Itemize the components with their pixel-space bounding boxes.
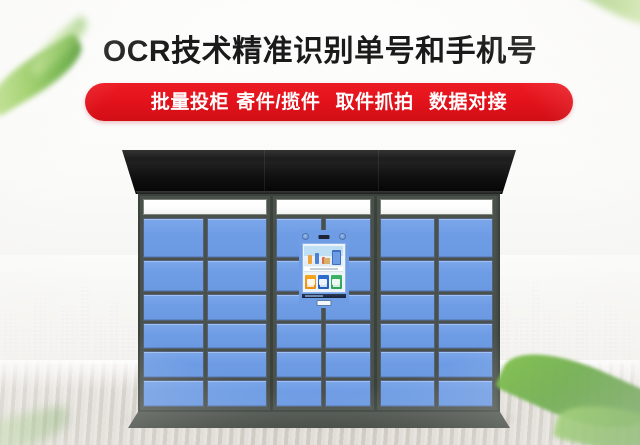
locker-door[interactable] xyxy=(325,351,371,378)
feature-item-2: 寄件/揽件 xyxy=(236,93,320,112)
cabinet-canopy xyxy=(122,150,516,194)
locker-door[interactable] xyxy=(438,294,493,321)
camera-icon xyxy=(318,235,329,239)
cabinet-base-plinth xyxy=(128,412,510,428)
locker-door[interactable] xyxy=(380,323,435,350)
feature-item-4: 数据对接 xyxy=(429,93,507,112)
locker-door[interactable] xyxy=(325,380,371,407)
card-slot[interactable] xyxy=(316,300,331,306)
locker-door[interactable] xyxy=(207,380,268,407)
locker-door[interactable] xyxy=(207,218,268,258)
locker-door[interactable] xyxy=(380,351,435,378)
locker-door[interactable] xyxy=(325,323,371,350)
page-title: OCR技术精准识别单号和手机号 xyxy=(0,26,640,70)
locker-door[interactable] xyxy=(380,218,435,258)
terminal-keypad[interactable] xyxy=(302,294,346,298)
locker-door[interactable] xyxy=(438,323,493,350)
screen-hero-illustration xyxy=(304,246,343,266)
locker-door[interactable] xyxy=(207,260,268,291)
locker-door[interactable] xyxy=(207,323,268,350)
screen-action-tiles xyxy=(304,274,343,291)
locker-door[interactable] xyxy=(143,351,204,378)
tile-orange[interactable] xyxy=(305,275,316,289)
smart-parcel-locker-cabinet xyxy=(138,150,500,418)
locker-door[interactable] xyxy=(438,380,493,407)
feature-item-3: 取件抓拍 xyxy=(335,93,413,112)
feature-pill-banner: 批量投柜 寄件/揽件 取件抓拍 数据对接 xyxy=(85,83,573,121)
locker-door[interactable] xyxy=(143,260,204,291)
right-cabinet-header-strip xyxy=(380,199,493,215)
locker-door[interactable] xyxy=(207,351,268,378)
terminal-top-bar xyxy=(299,230,349,243)
screen-title-bar xyxy=(304,267,343,272)
locker-door[interactable] xyxy=(276,351,322,378)
locker-door[interactable] xyxy=(438,351,493,378)
locker-door[interactable] xyxy=(438,260,493,291)
tile-green[interactable] xyxy=(331,275,342,289)
promo-banner-image: OCR技术精准识别单号和手机号 批量投柜 寄件/揽件 取件抓拍 数据对接 xyxy=(0,0,640,445)
locker-door[interactable] xyxy=(207,294,268,321)
terminal-touchscreen[interactable] xyxy=(302,243,346,293)
locker-door[interactable] xyxy=(438,218,493,258)
locker-door[interactable] xyxy=(143,380,204,407)
locker-door[interactable] xyxy=(143,294,204,321)
locker-door[interactable] xyxy=(276,323,322,350)
center-cabinet xyxy=(270,196,374,410)
feature-item-1: 批量投柜 xyxy=(151,93,229,112)
locker-door[interactable] xyxy=(380,260,435,291)
cabinet-body xyxy=(138,194,500,412)
feature-pill-text: 批量投柜 寄件/揽件 取件抓拍 数据对接 xyxy=(151,93,508,112)
locker-door[interactable] xyxy=(380,294,435,321)
right-cabinet xyxy=(374,196,496,410)
speaker-right-icon xyxy=(339,233,346,240)
left-cabinet xyxy=(140,196,270,410)
left-cabinet-header-strip xyxy=(143,199,267,215)
tile-blue[interactable] xyxy=(318,275,329,289)
center-cabinet-header-strip xyxy=(276,199,371,215)
operator-terminal[interactable] xyxy=(299,230,349,308)
locker-door[interactable] xyxy=(276,380,322,407)
locker-door[interactable] xyxy=(143,218,204,258)
speaker-left-icon xyxy=(302,233,309,240)
locker-door[interactable] xyxy=(143,323,204,350)
locker-door[interactable] xyxy=(380,380,435,407)
